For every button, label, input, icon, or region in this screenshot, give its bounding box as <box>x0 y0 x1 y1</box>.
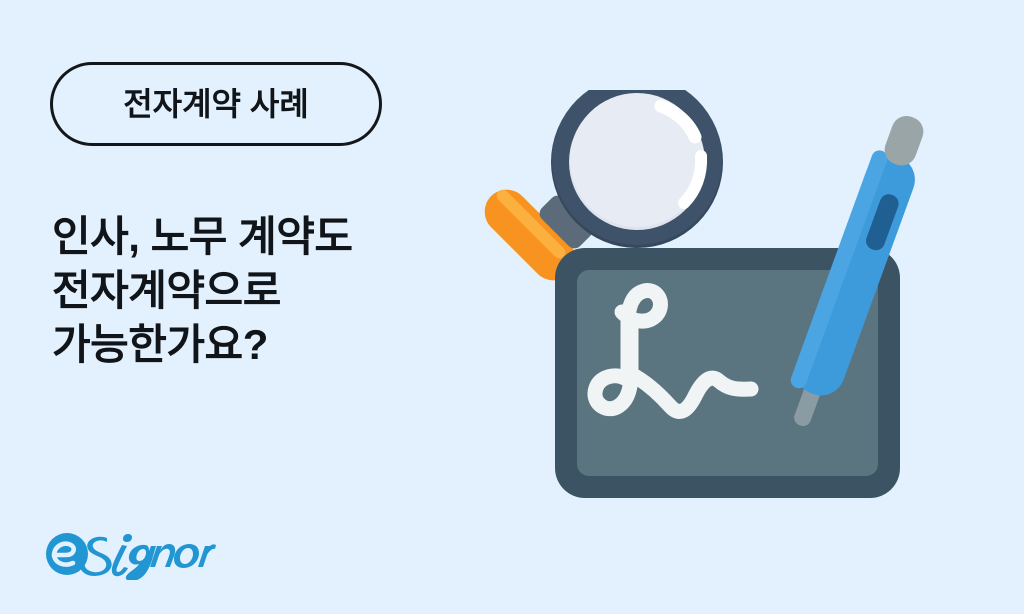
promo-card: 전자계약 사례 인사, 노무 계약도 전자계약으로 가능한가요? <box>0 0 1024 614</box>
brand-logo <box>44 522 216 580</box>
headline-line-1: 인사, 노무 계약도 <box>52 210 482 264</box>
headline-line-3: 가능한가요? <box>52 318 482 372</box>
page-title: 인사, 노무 계약도 전자계약으로 가능한가요? <box>52 210 482 373</box>
logo-wordmark <box>80 534 216 580</box>
headline-line-2: 전자계약으로 <box>52 264 482 318</box>
category-badge-label: 전자계약 사례 <box>123 88 309 120</box>
signature-tablet-illustration <box>455 90 975 530</box>
category-badge: 전자계약 사례 <box>50 62 382 146</box>
